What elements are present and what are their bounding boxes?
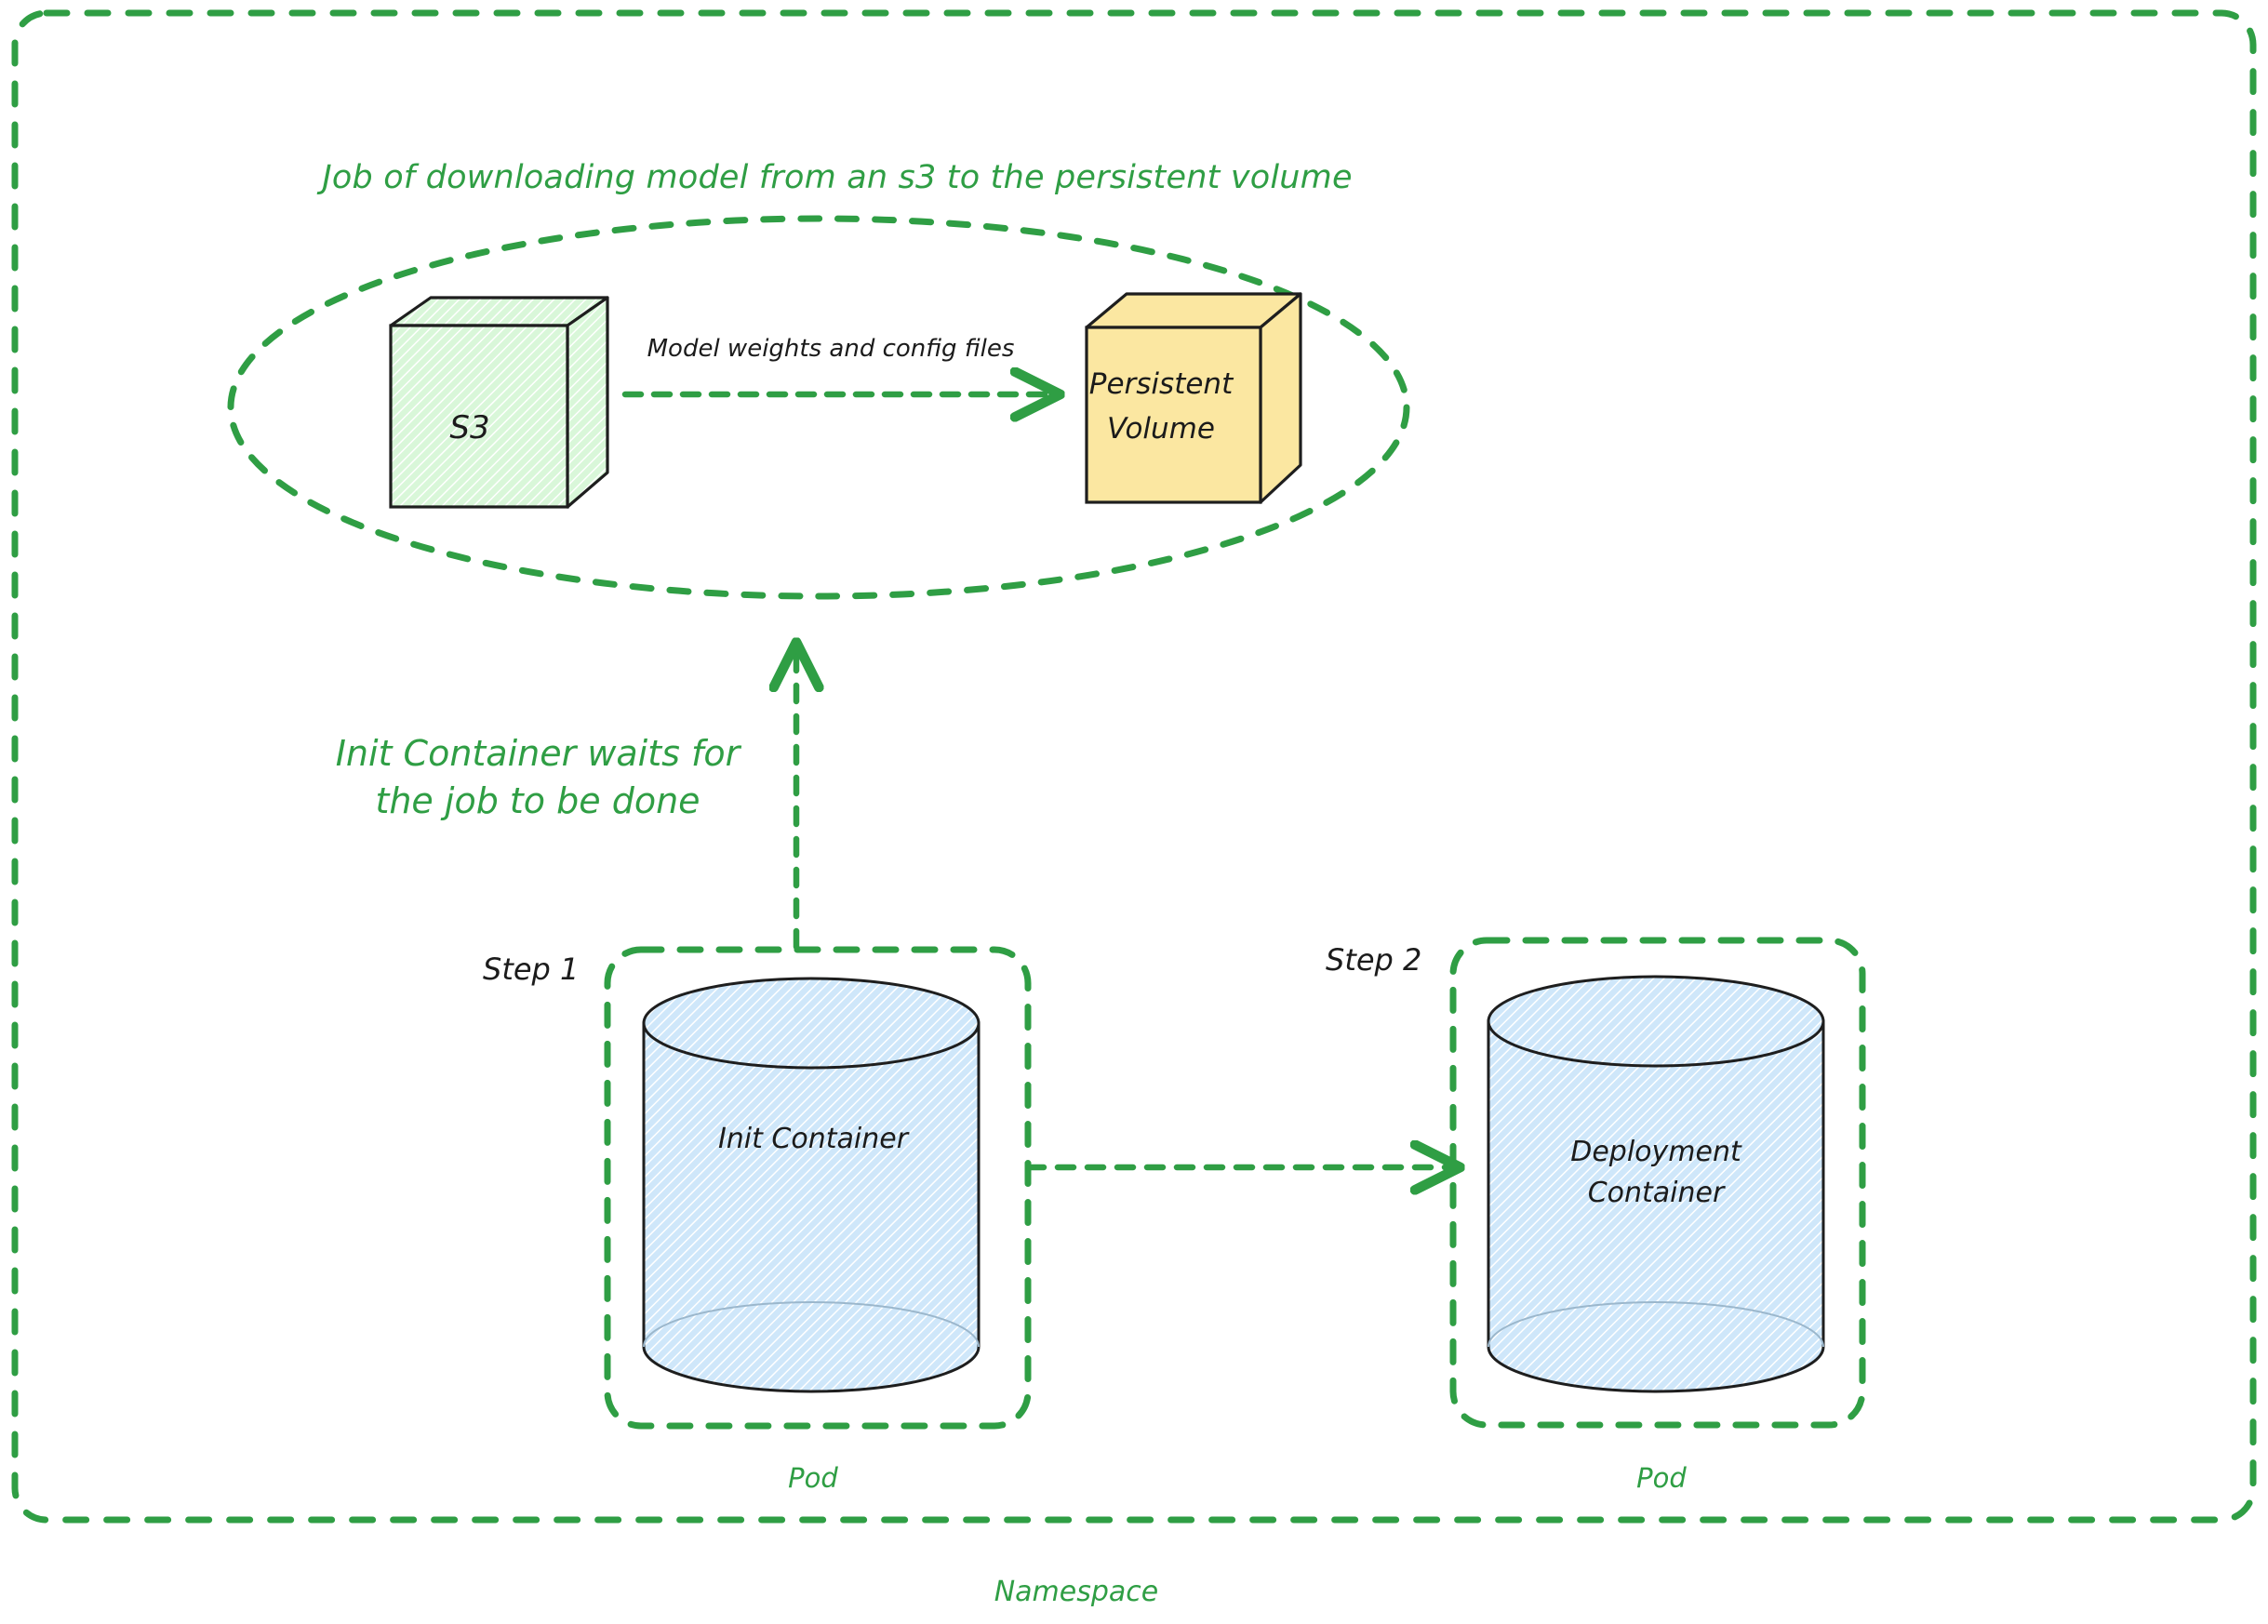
persistent-volume-label-line1: Persistent xyxy=(1089,367,1233,403)
s3-cube-label: S3 xyxy=(449,409,489,447)
step-1-label: Step 1 xyxy=(483,952,579,988)
s3-cube-shape xyxy=(391,298,607,507)
pod-1-label: Pod xyxy=(674,1462,953,1495)
diagram-canvas: Job of downloading model from an s3 to t… xyxy=(0,0,2268,1624)
init-wait-note-line2: the job to be done xyxy=(277,778,798,824)
step-2-label: Step 2 xyxy=(1326,942,1421,978)
init-container-cylinder xyxy=(644,978,979,1391)
deployment-container-label-line2: Container xyxy=(1461,1175,1851,1211)
pod-2-label: Pod xyxy=(1522,1462,1801,1495)
init-wait-note-line1: Init Container waits for xyxy=(277,730,798,777)
init-container-label: Init Container xyxy=(618,1121,1008,1157)
model-transfer-arrow-label: Model weights and config files xyxy=(647,335,1015,365)
namespace-label: Namespace xyxy=(890,1576,1262,1610)
persistent-volume-label-line2: Volume xyxy=(1107,412,1215,447)
diagram-title: Job of downloading model from an s3 to t… xyxy=(322,158,1352,198)
deployment-container-label-line1: Deployment xyxy=(1461,1134,1851,1170)
